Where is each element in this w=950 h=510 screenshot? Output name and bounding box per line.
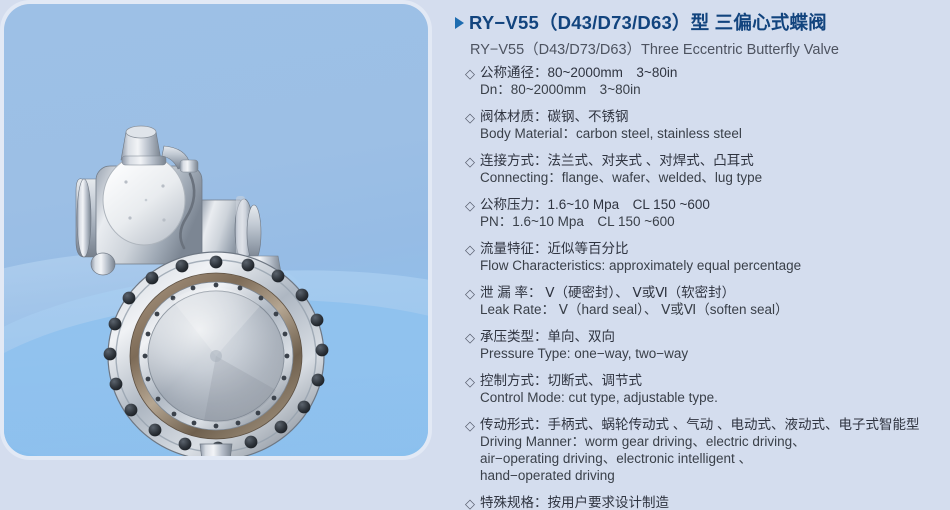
electric-actuator-assembly xyxy=(76,126,282,278)
butterfly-valve-body xyxy=(104,252,329,456)
page-title-en: RY−V55（D43/D73/D63）Three Eccentric Butte… xyxy=(470,38,945,59)
spec-item-driving-manner: ◇ 传动形式：手柄式、蜗轮传动式 、气动 、电动式、液动式、电子式智能型 Dri… xyxy=(465,416,945,484)
spec-item-body-material: ◇ 阀体材质：碳钢、不锈钢 Body Material：carbon steel… xyxy=(465,108,945,142)
diamond-outline-icon: ◇ xyxy=(465,417,480,434)
diamond-outline-icon: ◇ xyxy=(465,65,480,82)
diamond-outline-icon: ◇ xyxy=(465,373,480,390)
valve-product-image xyxy=(4,4,428,456)
spec-item-nominal-diameter: ◇ 公称通径：80~2000mm 3~80in Dn：80~2000mm 3~8… xyxy=(465,64,945,98)
product-title-block: RY−V55（D43/D73/D63）型 三偏心式蝶阀 RY−V55（D43/D… xyxy=(455,9,945,59)
spec-label-cn: 阀体材质：碳钢、不锈钢 xyxy=(480,108,945,125)
diamond-outline-icon: ◇ xyxy=(465,285,480,302)
spec-label-cn: 流量特征：近似等百分比 xyxy=(480,240,945,257)
diamond-outline-icon: ◇ xyxy=(465,153,480,170)
specification-column: RY−V55（D43/D73/D63）型 三偏心式蝶阀 RY−V55（D43/D… xyxy=(455,0,945,510)
diamond-outline-icon: ◇ xyxy=(465,241,480,258)
spec-label-en: Dn：80~2000mm 3~80in xyxy=(480,81,945,98)
spec-label-en: Connecting：flange、wafer、welded、lug type xyxy=(480,169,945,186)
spec-item-control-mode: ◇ 控制方式：切断式、调节式 Control Mode: cut type, a… xyxy=(465,372,945,406)
spec-label-cn: 连接方式：法兰式、对夹式 、对焊式、凸耳式 xyxy=(480,152,945,169)
spec-item-special-customization: ◇ 特殊规格：按用户要求设计制造 Special Customization: … xyxy=(465,494,945,510)
spec-label-en: Pressure Type: one−way, two−way xyxy=(480,345,945,362)
diamond-outline-icon: ◇ xyxy=(465,495,480,510)
spec-label-cn: 传动形式：手柄式、蜗轮传动式 、气动 、电动式、液动式、电子式智能型 xyxy=(480,416,945,433)
spec-label-cn: 特殊规格：按用户要求设计制造 xyxy=(480,494,945,510)
spec-label-en: Body Material：carbon steel, stainless st… xyxy=(480,125,945,142)
spec-item-nominal-pressure: ◇ 公称压力：1.6~10 Mpa CL 150 ~600 PN：1.6~10 … xyxy=(465,196,945,230)
product-image-panel xyxy=(4,4,428,456)
spec-label-en: Driving Manner：worm gear driving、electri… xyxy=(480,433,945,484)
page-title-cn: RY−V55（D43/D73/D63）型 三偏心式蝶阀 xyxy=(469,9,827,35)
product-spec-page: RY−V55（D43/D73/D63）型 三偏心式蝶阀 RY−V55（D43/D… xyxy=(0,0,950,510)
spec-label-en: PN：1.6~10 Mpa CL 150 ~600 xyxy=(480,213,945,230)
spec-label-cn: 公称压力：1.6~10 Mpa CL 150 ~600 xyxy=(480,196,945,213)
spec-label-cn: 承压类型：单向、双向 xyxy=(480,328,945,345)
specification-list: ◇ 公称通径：80~2000mm 3~80in Dn：80~2000mm 3~8… xyxy=(465,64,945,510)
spec-label-en: Leak Rate： Ⅴ（hard seal）、 Ⅴ或Ⅵ（soften seal… xyxy=(480,301,945,318)
spec-item-connecting: ◇ 连接方式：法兰式、对夹式 、对焊式、凸耳式 Connecting：flang… xyxy=(465,152,945,186)
spec-label-en: Flow Characteristics: approximately equa… xyxy=(480,257,945,274)
triangle-right-icon xyxy=(455,17,464,29)
spec-item-leak-rate: ◇ 泄 漏 率： Ⅴ（硬密封）、 Ⅴ或Ⅵ（软密封） Leak Rate： Ⅴ（h… xyxy=(465,284,945,318)
diamond-outline-icon: ◇ xyxy=(465,197,480,214)
spec-label-en: Control Mode: cut type, adjustable type. xyxy=(480,389,945,406)
diamond-outline-icon: ◇ xyxy=(465,329,480,346)
spec-label-cn: 控制方式：切断式、调节式 xyxy=(480,372,945,389)
spec-label-cn: 泄 漏 率： Ⅴ（硬密封）、 Ⅴ或Ⅵ（软密封） xyxy=(480,284,945,301)
diamond-outline-icon: ◇ xyxy=(465,109,480,126)
spec-label-cn: 公称通径：80~2000mm 3~80in xyxy=(480,64,945,81)
spec-item-flow-characteristics: ◇ 流量特征：近似等百分比 Flow Characteristics: appr… xyxy=(465,240,945,274)
spec-item-pressure-type: ◇ 承压类型：单向、双向 Pressure Type: one−way, two… xyxy=(465,328,945,362)
